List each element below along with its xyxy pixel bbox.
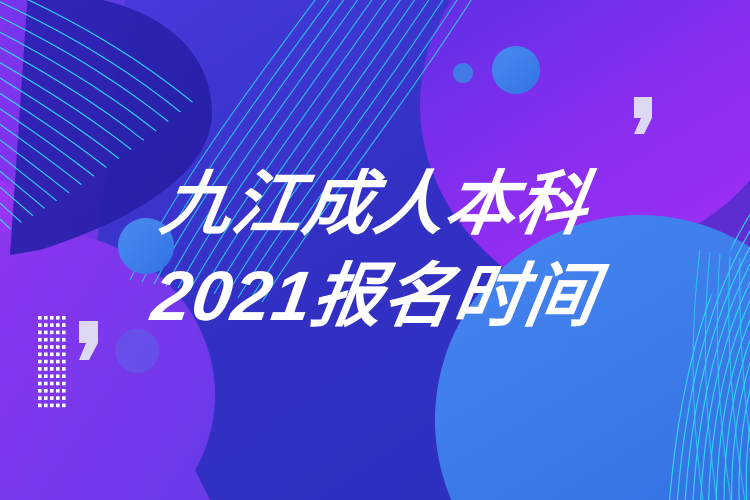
quote-mark-top-right-icon <box>634 97 652 134</box>
quote-decorations <box>0 0 750 500</box>
quote-mark-bottom-left-icon <box>79 321 98 360</box>
dot-grid-pattern <box>38 316 67 412</box>
promo-banner: 九江成人本科 2021报名时间 <box>0 0 750 500</box>
